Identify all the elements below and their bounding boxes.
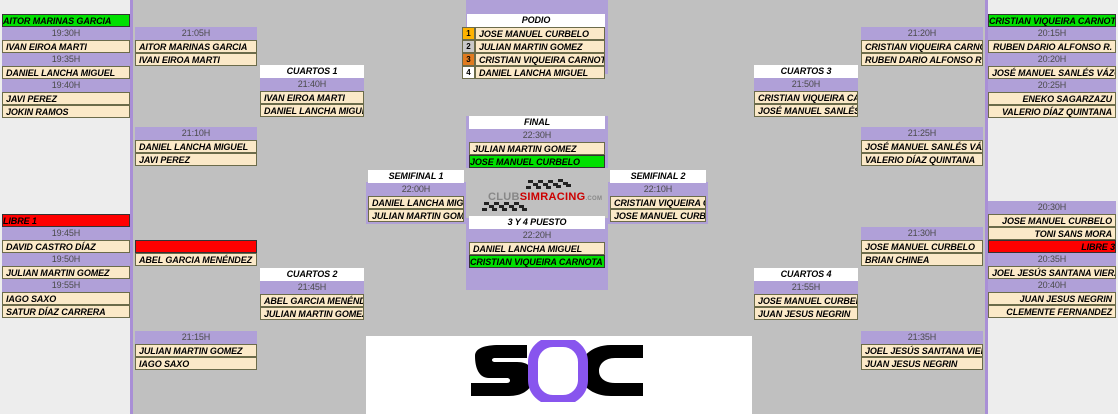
left-quarter-p2-1[interactable]: JULIAN MARTIN GOMEZ	[260, 307, 364, 320]
right-r2-time-2: 21:30H	[861, 227, 983, 240]
club-simracing-logo: CLUBSIMRACING.COM	[470, 178, 610, 216]
simracing-racing-text: RACING	[540, 191, 585, 203]
third-place-time: 22:20H	[469, 229, 605, 242]
right-r2-p2-0[interactable]: RUBEN DARIO ALFONSO R.	[861, 53, 983, 66]
right-r1-p1-4[interactable]: JOSE MANUEL CURBELO	[988, 214, 1116, 227]
tournament-bracket: AITOR MARINAS GARCIALIBRE 519:30HIVAN EI…	[0, 0, 1118, 414]
final-p2[interactable]: JOSE MANUEL CURBELO	[469, 155, 605, 168]
left-r1-time-3: 19:40H	[2, 79, 130, 92]
podium-title: PODIO	[467, 14, 605, 27]
right-r2-time-3: 21:35H	[861, 331, 983, 344]
podium-rank-3: 3	[462, 53, 475, 66]
right-r2-time-1: 21:25H	[861, 127, 983, 140]
right-r1-p2-3[interactable]: VALERIO DÍAZ QUINTANA	[988, 105, 1116, 118]
left-r1-p1-2[interactable]: DANIEL LANCHA MIGUEL	[2, 66, 130, 79]
third-place-p1[interactable]: DANIEL LANCHA MIGUEL	[469, 242, 605, 255]
simracing-wordmark: CLUBSIMRACING.COM	[488, 191, 602, 203]
podium-name-2[interactable]: JULIAN MARTIN GOMEZ	[475, 40, 605, 53]
right-r2-time-0: 21:20H	[861, 27, 983, 40]
third-place-title: 3 Y 4 PUESTO	[469, 216, 605, 229]
right-r2-p2-2[interactable]: BRIAN CHINEA	[861, 253, 983, 266]
right-quarter-title-0: CUARTOS 3	[754, 65, 858, 78]
right-r1-time-7: 20:40H	[988, 279, 1116, 292]
right-quarter-time-1: 21:55H	[754, 281, 858, 294]
left-r1-p1-6[interactable]: JULIAN MARTIN GOMEZ	[2, 266, 130, 279]
right-r1-p1-6[interactable]: JOEL JESÚS SANTANA VIERA	[988, 266, 1116, 279]
podium-rank-2: 2	[462, 40, 475, 53]
left-r1-p1-5[interactable]: DAVID CASTRO DÍAZ	[2, 240, 130, 253]
left-quarter-title-1: CUARTOS 2	[260, 268, 364, 281]
right-quarter-time-0: 21:50H	[754, 78, 858, 91]
left-r1-time-5: 19:45H	[2, 227, 130, 240]
right-r1-time-2: 20:20H	[988, 53, 1116, 66]
left-r2-p2-1[interactable]: JAVI PEREZ	[135, 153, 257, 166]
left-r2-p2-2[interactable]: ABEL GARCIA MENÉNDEZ	[135, 253, 257, 266]
right-quarter-p1-0[interactable]: CRISTIAN VIQUEIRA CARNOTA	[754, 91, 858, 104]
left-r2-time-1: 21:10H	[135, 127, 257, 140]
left-quarter-p1-0[interactable]: IVAN EIROA MARTI	[260, 91, 364, 104]
right-r1-time-4: 20:30H	[988, 201, 1116, 214]
semifinal-p2-0[interactable]: JULIAN MARTIN GOMEZ	[368, 209, 464, 222]
right-r1-p1-0[interactable]: CRISTIAN VIQUEIRA CARNOTA	[988, 14, 1116, 27]
right-r2-p1-1[interactable]: JOSÉ MANUEL SANLÉS VÁZQUEZ	[861, 140, 983, 153]
left-r1-time-6: 19:50H	[2, 253, 130, 266]
left-r1-p1-4[interactable]: LIBRE 1	[2, 214, 130, 227]
right-r2-p1-2[interactable]: JOSE MANUEL CURBELO	[861, 240, 983, 253]
left-r2-time-3: 21:15H	[135, 331, 257, 344]
center-gap-backdrop	[466, 74, 608, 116]
right-r1-p2-4[interactable]: TONI SANS MORA	[988, 227, 1116, 240]
podium-name-1[interactable]: JOSE MANUEL CURBELO	[475, 27, 605, 40]
semifinal-time-0: 22:00H	[368, 183, 464, 196]
third-place-p2[interactable]: CRISTIAN VIQUEIRA CARNOTA	[469, 255, 605, 268]
left-r2-time-0: 21:05H	[135, 27, 257, 40]
left-r2-p1-1[interactable]: DANIEL LANCHA MIGUEL	[135, 140, 257, 153]
left-r2-p2-0[interactable]: IVAN EIROA MARTI	[135, 53, 257, 66]
semifinal-p2-1[interactable]: JOSE MANUEL CURBELO	[610, 209, 706, 222]
left-r2-p1-2[interactable]	[135, 240, 257, 253]
soc-logo-mark	[465, 340, 655, 402]
left-r2-p1-0[interactable]: AITOR MARINAS GARCIA	[135, 40, 257, 53]
simracing-com-text: .COM	[585, 196, 602, 202]
right-r1-time-3: 20:25H	[988, 79, 1116, 92]
left-r1-p1-0[interactable]: AITOR MARINAS GARCIA	[2, 14, 130, 27]
podium-rank-1: 1	[462, 27, 475, 40]
final-time: 22:30H	[469, 129, 605, 142]
right-r1-p1-2[interactable]: JOSÉ MANUEL SANLÉS VÁZQUEZ	[988, 66, 1116, 79]
left-r1-p2-3[interactable]: JOKIN RAMOS	[2, 105, 130, 118]
right-col3-backdrop	[752, 0, 860, 414]
left-quarter-p1-1[interactable]: ABEL GARCIA MENÉNDEZ	[260, 294, 364, 307]
right-r1-p1-1[interactable]: RUBEN DARIO ALFONSO R.	[988, 40, 1116, 53]
right-quarter-p2-0[interactable]: JOSÉ MANUEL SANLÉS VÁZQUEZ	[754, 104, 858, 117]
right-quarter-p1-1[interactable]: JOSE MANUEL CURBELO	[754, 294, 858, 307]
podium-name-3[interactable]: CRISTIAN VIQUEIRA CARNOTA	[475, 53, 605, 66]
right-r2-p2-1[interactable]: VALERIO DÍAZ QUINTANA	[861, 153, 983, 166]
left-quarter-title-0: CUARTOS 1	[260, 65, 364, 78]
right-r1-time-1: 20:15H	[988, 27, 1116, 40]
semifinal-p1-0[interactable]: DANIEL LANCHA MIGUEL	[368, 196, 464, 209]
left-r1-time-1: 19:30H	[2, 27, 130, 40]
right-r1-p1-7[interactable]: JUAN JESUS NEGRIN	[988, 292, 1116, 305]
left-r1-time-7: 19:55H	[2, 279, 130, 292]
right-quarter-title-1: CUARTOS 4	[754, 268, 858, 281]
semifinal-p1-1[interactable]: CRISTIAN VIQUEIRA CARNOTA	[610, 196, 706, 209]
right-r1-p1-5[interactable]: LIBRE 3	[988, 240, 1116, 253]
left-r1-p2-7[interactable]: SATUR DÍAZ CARRERA	[2, 305, 130, 318]
left-r1-p1-3[interactable]: JAVI PEREZ	[2, 92, 130, 105]
simracing-sim-text: SIM	[520, 191, 540, 203]
right-r2-p1-0[interactable]: CRISTIAN VIQUEIRA CARNOTA	[861, 40, 983, 53]
left-r2-p1-3[interactable]: JULIAN MARTIN GOMEZ	[135, 344, 257, 357]
soc-divider	[366, 330, 752, 336]
right-r1-time-6: 20:35H	[988, 253, 1116, 266]
left-col3-backdrop	[258, 0, 366, 414]
soc-logo	[465, 340, 655, 402]
left-r1-time-2: 19:35H	[2, 53, 130, 66]
semifinal-title-1: SEMIFINAL 2	[610, 170, 706, 183]
left-r2-p2-3[interactable]: IAGO SAXO	[135, 357, 257, 370]
right-quarter-p2-1[interactable]: JUAN JESUS NEGRIN	[754, 307, 858, 320]
left-quarter-time-1: 21:45H	[260, 281, 364, 294]
podium-rank-4: 4	[462, 66, 475, 79]
right-r1-p1-3[interactable]: ENEKO SAGARZAZU	[988, 92, 1116, 105]
left-r1-p1-7[interactable]: IAGO SAXO	[2, 292, 130, 305]
podium-name-4[interactable]: DANIEL LANCHA MIGUEL	[475, 66, 605, 79]
left-quarter-p2-0[interactable]: DANIEL LANCHA MIGUEL	[260, 104, 364, 117]
right-r1-p2-7[interactable]: CLEMENTE FERNANDEZ	[988, 305, 1116, 318]
left-quarter-time-0: 21:40H	[260, 78, 364, 91]
final-p1[interactable]: JULIAN MARTIN GOMEZ	[469, 142, 605, 155]
final-title: FINAL	[469, 116, 605, 129]
right-r2-p2-3[interactable]: JUAN JESUS NEGRIN	[861, 357, 983, 370]
left-r1-p1-1[interactable]: IVAN EIROA MARTI	[2, 40, 130, 53]
right-r2-p1-3[interactable]: JOEL JESÚS SANTANA VIERA	[861, 344, 983, 357]
semifinal-title-0: SEMIFINAL 1	[368, 170, 464, 183]
simracing-club-text: CLUB	[488, 191, 520, 203]
semifinal-time-1: 22:10H	[610, 183, 706, 196]
